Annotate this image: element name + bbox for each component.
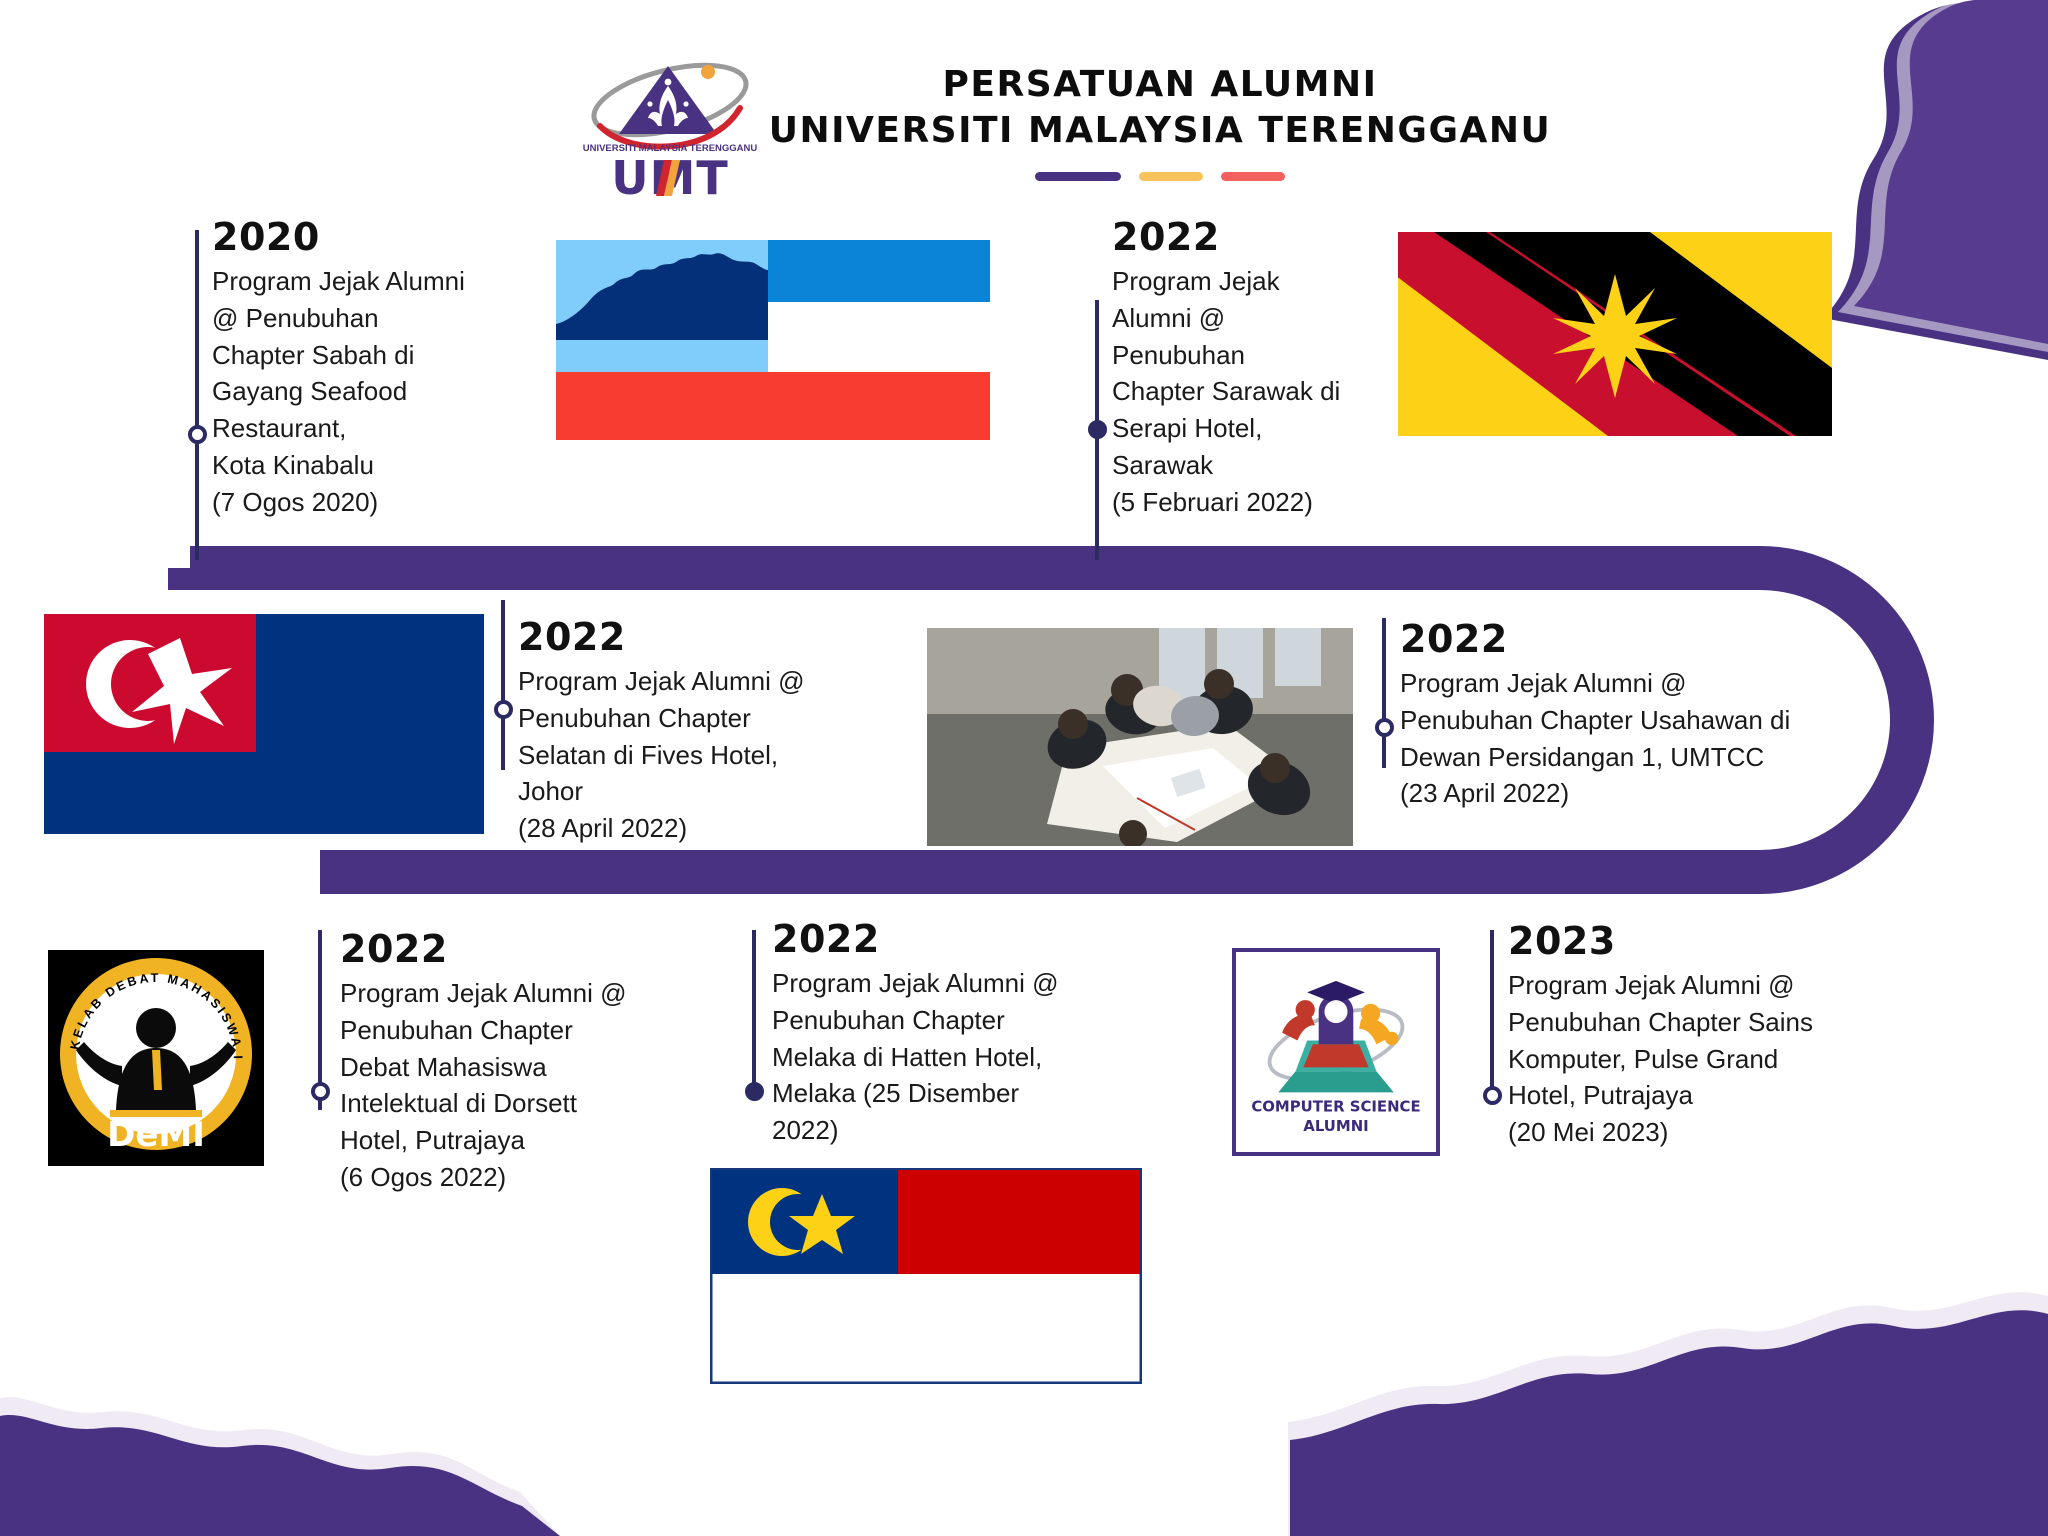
demi-logo: KELAB DEBAT MAHASISWA INTELEKTUAL DeMI [48,950,264,1166]
melaka-flag [710,1168,1142,1384]
sarawak-flag [1398,232,1832,436]
computer-science-alumni-logo: COMPUTER SCIENCE ALUMNI [1232,948,1440,1156]
sabah-flag [556,240,990,440]
meeting-photo [927,628,1353,846]
entry-selatan-johor: 2022 Program Jejak Alumni @ Penubuhan Ch… [518,618,848,847]
demi-wordmark: DeMI [107,1115,205,1155]
entry-sains-komputer: 2023 Program Jejak Alumni @ Penubuhan Ch… [1508,922,1868,1151]
stem-sains-komputer [1490,930,1494,1102]
stem-melaka [752,930,756,1090]
stem-johor [501,600,505,770]
entry-body: Program Jejak Alumni @ Penubuhan Chapter… [1508,967,1868,1152]
node-dot-demi [311,1082,330,1101]
johor-flag [44,614,484,834]
entry-body: Program Jejak Alumni @ Penubuhan Chapter… [772,965,1102,1150]
cs-logo-line2: ALUMNI [1303,1117,1368,1135]
entry-body: Program Jejak Alumni @ Penubuhan Chapter… [518,663,848,848]
node-dot-usahawan [1375,718,1394,737]
node-dot-sarawak [1088,420,1107,439]
entry-year: 2022 [340,930,640,969]
infographic-canvas: UNIVERSITI MALAYSIA TERENGGANU UMT PERSA… [0,0,2048,1536]
entry-body: Program Jejak Alumni @ Penubuhan Chapter… [1112,263,1382,521]
entry-usahawan: 2022 Program Jejak Alumni @ Penubuhan Ch… [1400,620,1850,812]
entry-year: 2022 [1112,218,1382,257]
node-dot-johor [494,700,513,719]
entry-demi-debat: 2022 Program Jejak Alumni @ Penubuhan Ch… [340,930,640,1196]
entry-melaka: 2022 Program Jejak Alumni @ Penubuhan Ch… [772,920,1102,1149]
cs-logo-line1: COMPUTER SCIENCE [1251,1098,1420,1116]
entry-sabah: 2020 Program Jejak Alumni @ Penubuhan Ch… [212,218,512,521]
node-dot-sabah [188,425,207,444]
entry-year: 2023 [1508,922,1868,961]
entry-body: Program Jejak Alumni @ Penubuhan Chapter… [212,263,512,521]
stem-usahawan [1382,618,1386,768]
entry-body: Program Jejak Alumni @ Penubuhan Chapter… [1400,665,1850,813]
entry-year: 2020 [212,218,512,257]
entry-year: 2022 [1400,620,1850,659]
node-dot-sains-komputer [1483,1086,1502,1105]
entry-sarawak: 2022 Program Jejak Alumni @ Penubuhan Ch… [1112,218,1382,521]
stem-sabah [195,230,199,560]
entry-body: Program Jejak Alumni @ Penubuhan Chapter… [340,975,640,1196]
node-dot-melaka [745,1082,764,1101]
entry-year: 2022 [772,920,1102,959]
entry-year: 2022 [518,618,848,657]
